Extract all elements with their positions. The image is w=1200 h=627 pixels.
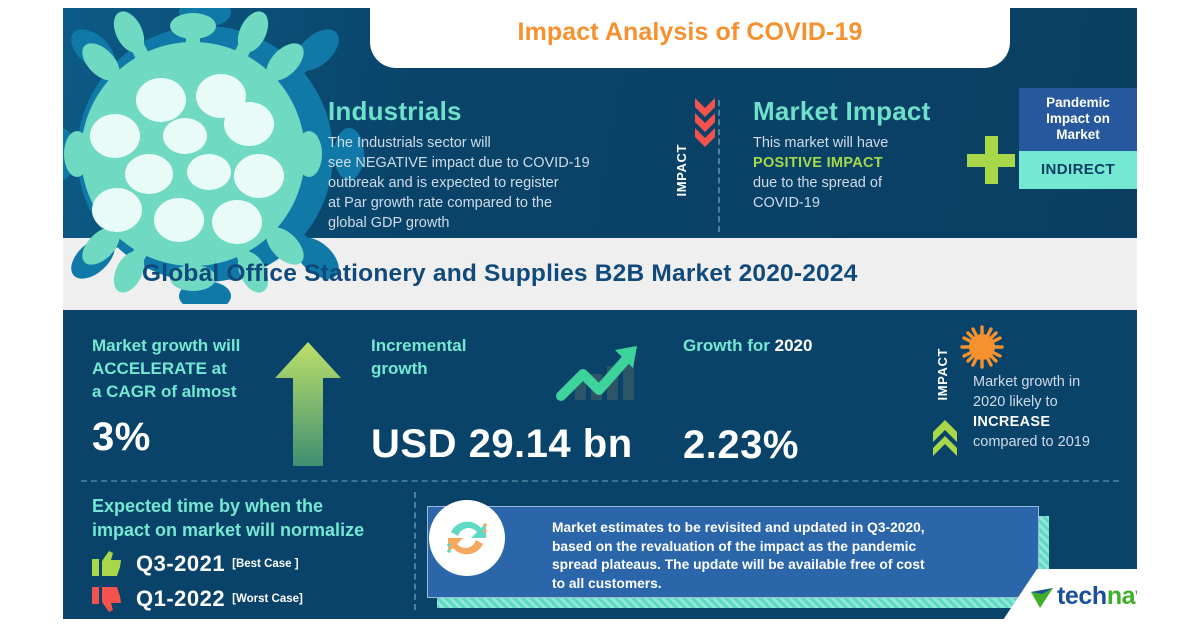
stats-row: Market growth will ACCELERATE at a CAGR … bbox=[63, 310, 1137, 478]
banner-title-container: Impact Analysis of COVID-19 bbox=[370, 8, 1010, 68]
stat-growth-value: 2.23% bbox=[683, 423, 923, 468]
technavio-wordmark: technavio bbox=[1057, 582, 1137, 611]
industrials-line-5: global GDP growth bbox=[328, 213, 676, 233]
pandemic-impact-title: Pandemic Impact on Market bbox=[1019, 88, 1137, 151]
callout-box: Market estimates to be revisited and upd… bbox=[427, 506, 1039, 598]
stat-incremental-value: USD 29.14 bn bbox=[371, 422, 671, 467]
stat-growth-label: Growth for 2020 bbox=[683, 334, 923, 357]
technavio-word-navio: navio bbox=[1107, 582, 1137, 610]
stat-incremental: Incremental growth USD 29.14 bn bbox=[371, 334, 671, 467]
stat-impact-line-4: compared to 2019 bbox=[973, 432, 1137, 452]
industrials-body: The Industrials sector will see NEGATIVE… bbox=[328, 133, 676, 233]
normalize-quarter-best: Q3-2021 bbox=[136, 551, 225, 577]
impact-indicator-header: IMPACT bbox=[676, 96, 712, 226]
technavio-word-tech: tech bbox=[1057, 582, 1107, 610]
header-divider bbox=[718, 100, 720, 232]
callout-line-3: spread plateaus. The update will be avai… bbox=[552, 556, 1026, 575]
chevron-down-icon bbox=[694, 96, 716, 153]
industrials-block: Industrials The Industrials sector will … bbox=[328, 96, 676, 233]
callout-line-2: based on the revaluation of the impact a… bbox=[552, 538, 1026, 557]
impact-label-stats: IMPACT bbox=[935, 348, 950, 400]
normalize-row-best: Q3-2021 [Best Case ] bbox=[92, 551, 422, 577]
callout-text: Market estimates to be revisited and upd… bbox=[552, 519, 1026, 593]
normalize-heading: Expected time by when the impact on mark… bbox=[92, 494, 422, 542]
normalize-heading-2: impact on market will normalize bbox=[92, 518, 422, 542]
stat-growth-label-teal: Growth for bbox=[683, 336, 775, 355]
report-title-container: Global Office Stationery and Supplies B2… bbox=[63, 238, 1137, 310]
normalize-case-best: [Best Case ] bbox=[232, 558, 298, 570]
thumbs-down-icon bbox=[92, 586, 122, 612]
thumbs-up-icon bbox=[92, 551, 122, 577]
page-title: Impact Analysis of COVID-19 bbox=[518, 18, 863, 47]
pandemic-impact-value: INDIRECT bbox=[1019, 151, 1137, 189]
stat-impact-line-1: Market growth in bbox=[973, 372, 1137, 392]
industrials-heading: Industrials bbox=[328, 96, 676, 127]
section-divider bbox=[81, 480, 1119, 482]
up-arrow-icon bbox=[275, 342, 341, 471]
industrials-line-2: see NEGATIVE impact due to COVID-19 bbox=[328, 153, 676, 173]
virus-icon bbox=[959, 324, 1005, 375]
industrials-line-1: The Industrials sector will bbox=[328, 133, 676, 153]
normalize-heading-1: Expected time by when the bbox=[92, 494, 422, 518]
impact-label-header: IMPACT bbox=[674, 144, 689, 196]
plus-icon bbox=[967, 136, 1015, 184]
market-impact-line-4: COVID-19 bbox=[753, 193, 1033, 213]
stat-impact-2020: IMPACT Market growth in 2020 likely to I… bbox=[925, 320, 1137, 480]
normalize-row-worst: Q1-2022 [Worst Case] bbox=[92, 586, 422, 612]
industrials-line-4: at Par growth rate compared to the bbox=[328, 193, 676, 213]
callout-line-1: Market estimates to be revisited and upd… bbox=[552, 519, 1026, 538]
normalize-case-worst: [Worst Case] bbox=[232, 593, 303, 605]
stat-growth-label-year: 2020 bbox=[775, 336, 813, 355]
infographic-canvas: Impact Analysis of COVID-19 Industrials … bbox=[63, 8, 1137, 619]
chevron-up-icon bbox=[931, 412, 959, 463]
normalize-quarter-worst: Q1-2022 bbox=[136, 586, 225, 612]
industrials-line-3: outbreak and is expected to register bbox=[328, 173, 676, 193]
report-title: Global Office Stationery and Supplies B2… bbox=[142, 260, 858, 288]
stat-growth-2020: Growth for 2020 2.23% bbox=[683, 334, 923, 468]
pandemic-impact-box: Pandemic Impact on Market INDIRECT bbox=[1019, 88, 1137, 189]
refresh-cycle-icon bbox=[429, 500, 505, 576]
stat-impact-text: Market growth in 2020 likely to INCREASE… bbox=[973, 372, 1137, 452]
callout-line-4: to all customers. bbox=[552, 575, 1026, 594]
market-impact-heading: Market Impact bbox=[753, 96, 1033, 127]
bottom-divider bbox=[414, 492, 416, 610]
stat-impact-emphasis: INCREASE bbox=[973, 414, 1050, 430]
infographic-root: Impact Analysis of COVID-19 Industrials … bbox=[0, 0, 1200, 627]
trend-up-icon bbox=[555, 342, 643, 409]
technavio-arrow-icon bbox=[1031, 588, 1055, 615]
normalize-block: Expected time by when the impact on mark… bbox=[92, 494, 422, 612]
stat-impact-line-2: 2020 likely to bbox=[973, 392, 1137, 412]
